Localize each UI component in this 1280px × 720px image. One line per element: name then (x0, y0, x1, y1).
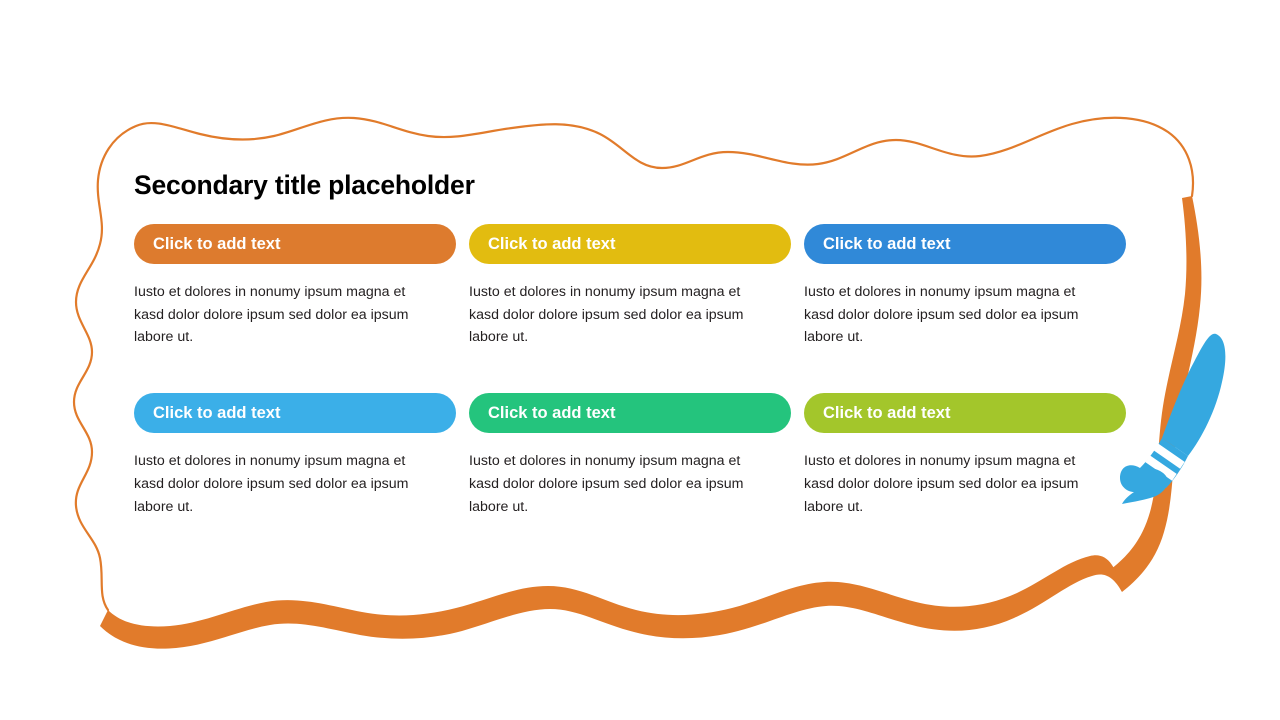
slide-canvas: Secondary title placeholder Click to add… (0, 0, 1280, 720)
card-3: Click to add text Iusto et dolores in no… (804, 224, 1126, 349)
frame-thick-stroke-bottom (100, 555, 1122, 648)
card-3-button-label: Click to add text (823, 236, 950, 253)
click-to-add-text-button-2[interactable]: Click to add text (469, 224, 791, 264)
card-4-button-label: Click to add text (153, 405, 280, 422)
card-6-body-text: Iusto et dolores in nonumy ipsum magna e… (804, 450, 1099, 518)
card-6: Click to add text Iusto et dolores in no… (804, 393, 1126, 518)
card-3-body-text: Iusto et dolores in nonumy ipsum magna e… (804, 281, 1099, 349)
card-5-button-label: Click to add text (488, 405, 615, 422)
card-4: Click to add text Iusto et dolores in no… (134, 393, 456, 518)
paintbrush-icon (1120, 320, 1250, 520)
card-1-button-label: Click to add text (153, 236, 280, 253)
click-to-add-text-button-1[interactable]: Click to add text (134, 224, 456, 264)
card-grid: Click to add text Iusto et dolores in no… (134, 224, 1134, 519)
card-1: Click to add text Iusto et dolores in no… (134, 224, 456, 349)
brush-handle (1162, 334, 1225, 456)
card-2: Click to add text Iusto et dolores in no… (469, 224, 791, 349)
card-2-body-text: Iusto et dolores in nonumy ipsum magna e… (469, 281, 764, 349)
click-to-add-text-button-3[interactable]: Click to add text (804, 224, 1126, 264)
click-to-add-text-button-4[interactable]: Click to add text (134, 393, 456, 433)
click-to-add-text-button-6[interactable]: Click to add text (804, 393, 1126, 433)
card-5-body-text: Iusto et dolores in nonumy ipsum magna e… (469, 450, 764, 518)
click-to-add-text-button-5[interactable]: Click to add text (469, 393, 791, 433)
slide-content: Secondary title placeholder Click to add… (134, 170, 1134, 519)
card-6-button-label: Click to add text (823, 405, 950, 422)
card-5: Click to add text Iusto et dolores in no… (469, 393, 791, 518)
card-4-body-text: Iusto et dolores in nonumy ipsum magna e… (134, 450, 429, 518)
page-title: Secondary title placeholder (134, 170, 1134, 202)
card-2-button-label: Click to add text (488, 236, 615, 253)
brush-ferrule (1140, 438, 1188, 488)
card-1-body-text: Iusto et dolores in nonumy ipsum magna e… (134, 281, 429, 349)
